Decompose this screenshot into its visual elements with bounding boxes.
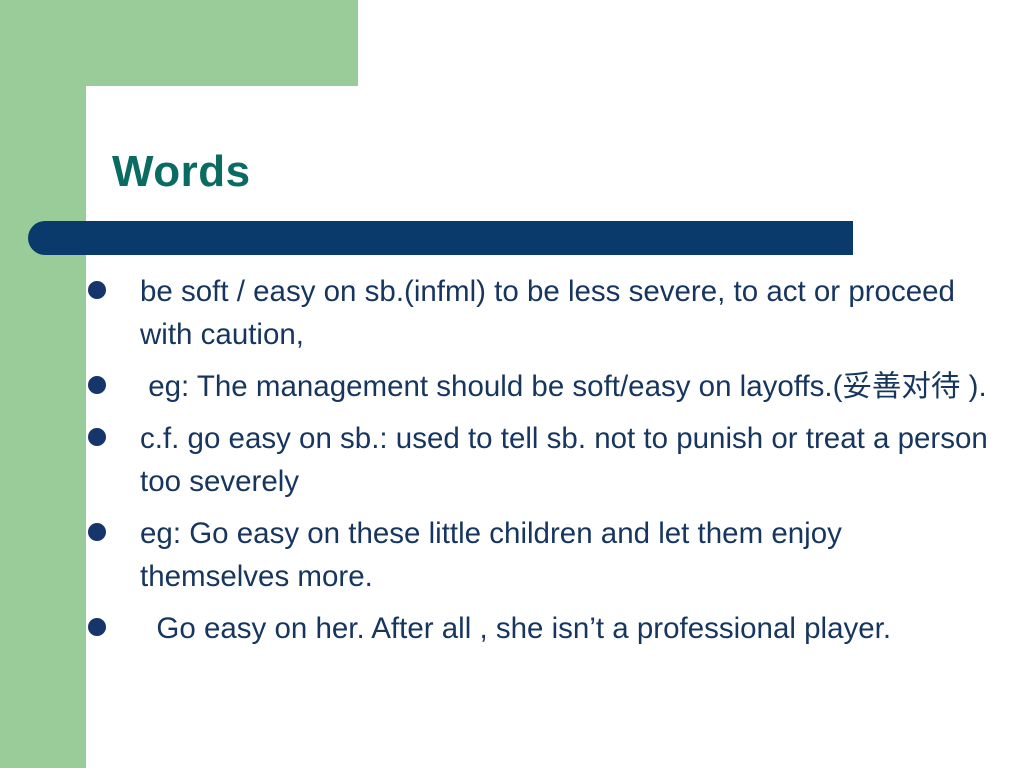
page-title: Words xyxy=(112,148,892,196)
list-item-text: be soft / easy on sb.(infml) to be less … xyxy=(140,270,998,356)
filled-circle-bullet-icon xyxy=(88,618,106,636)
list-item-text: eg: The management should be soft/easy o… xyxy=(140,365,998,408)
filled-circle-bullet-icon xyxy=(88,523,106,541)
title-underline-bar xyxy=(28,221,853,255)
bullet-list: be soft / easy on sb.(infml) to be less … xyxy=(88,270,998,659)
filled-circle-bullet-icon xyxy=(88,428,106,446)
list-item: Go easy on her. After all , she isn’t a … xyxy=(88,607,998,650)
list-item-text: c.f. go easy on sb.: used to tell sb. no… xyxy=(140,417,998,503)
filled-circle-bullet-icon xyxy=(88,376,106,394)
list-item: eg: The management should be soft/easy o… xyxy=(88,365,998,408)
list-item: eg: Go easy on these little children and… xyxy=(88,512,998,598)
list-item: be soft / easy on sb.(infml) to be less … xyxy=(88,270,998,356)
list-item-text: Go easy on her. After all , she isn’t a … xyxy=(140,607,998,650)
presentation-slide: Words be soft / easy on sb.(infml) to be… xyxy=(0,0,1024,768)
green-sidebar-panel xyxy=(0,0,86,768)
filled-circle-bullet-icon xyxy=(88,281,106,299)
list-item-text: eg: Go easy on these little children and… xyxy=(140,512,998,598)
green-header-block xyxy=(0,0,358,86)
list-item: c.f. go easy on sb.: used to tell sb. no… xyxy=(88,417,998,503)
